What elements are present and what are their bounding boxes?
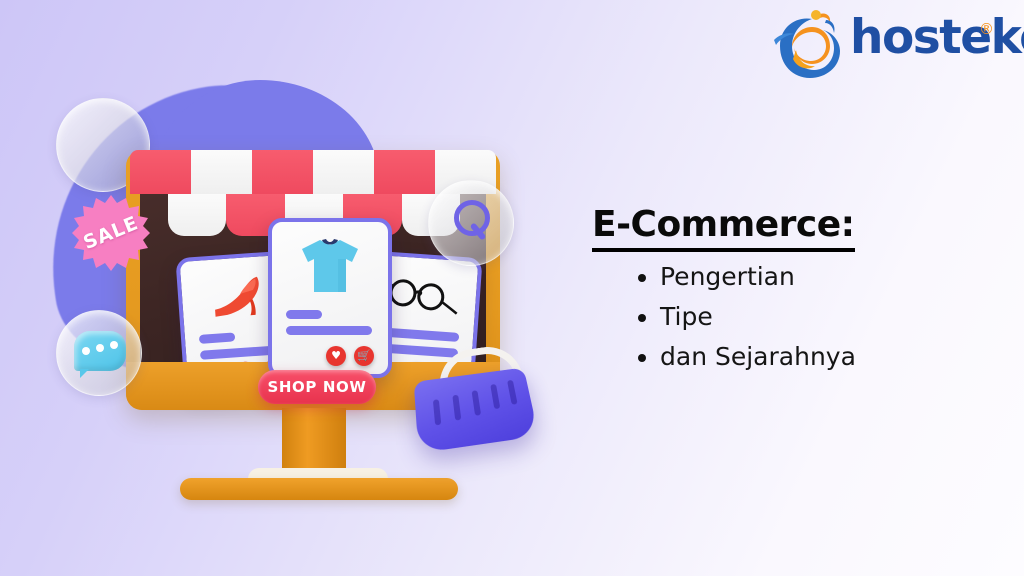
basket-slot — [452, 395, 461, 421]
shop-now-button[interactable]: SHOP NOW — [258, 370, 376, 404]
basket-slot — [472, 390, 482, 416]
awning-stripe — [191, 150, 252, 194]
card-text-bar — [199, 332, 236, 343]
card-text-bar — [286, 310, 322, 319]
awning-stripe — [313, 150, 374, 194]
text-content: E-Commerce: Pengertian Tipe dan Sejarahn… — [592, 206, 992, 382]
awning-stripe — [374, 150, 435, 194]
registered-trademark-icon: ® — [979, 20, 994, 38]
slide-canvas: hosteko ® E-Commerce: Pengertian Tipe da… — [0, 0, 1024, 576]
list-item: Pengertian — [660, 262, 992, 291]
t-shirt-icon — [298, 236, 362, 298]
chat-dot — [96, 344, 104, 352]
bullet-list: Pengertian Tipe dan Sejarahnya — [592, 262, 992, 371]
sale-badge: SALE — [72, 194, 150, 272]
monitor-base — [180, 478, 458, 500]
list-item: Tipe — [660, 302, 992, 331]
magnifier-search-icon[interactable] — [454, 200, 498, 244]
chat-bubble-icon[interactable] — [74, 331, 126, 371]
magnifier-ring — [454, 200, 490, 236]
eyeglasses-icon — [383, 272, 462, 317]
awning-stripe — [130, 150, 191, 194]
hosteko-logo[interactable]: hosteko ® — [766, 6, 1016, 82]
awning-scallop — [168, 194, 226, 236]
basket-body — [414, 368, 539, 454]
storefront-awning — [130, 150, 496, 194]
page-title: E-Commerce: — [592, 206, 855, 252]
basket-slot — [433, 399, 441, 425]
chat-dot — [82, 347, 90, 355]
card-text-bar — [286, 326, 372, 335]
list-item: dan Sejarahnya — [660, 342, 992, 371]
shopping-basket-icon[interactable] — [412, 330, 536, 450]
ecommerce-illustration: ♥ 🛒 ♥ 🛒 ♥ — [30, 70, 570, 530]
awning-stripe — [252, 150, 313, 194]
like-icon[interactable]: ♥ — [326, 346, 346, 366]
logo-wordmark: hosteko — [850, 14, 1024, 61]
basket-slot — [490, 384, 500, 409]
product-card-tshirt[interactable]: ♥ 🛒 — [268, 218, 392, 378]
chat-dot — [110, 341, 118, 349]
hosteko-swirl-logo-icon — [772, 10, 846, 80]
cart-icon[interactable]: 🛒 — [354, 346, 374, 366]
high-heel-shoe-icon — [209, 272, 270, 322]
basket-slot — [507, 380, 518, 405]
